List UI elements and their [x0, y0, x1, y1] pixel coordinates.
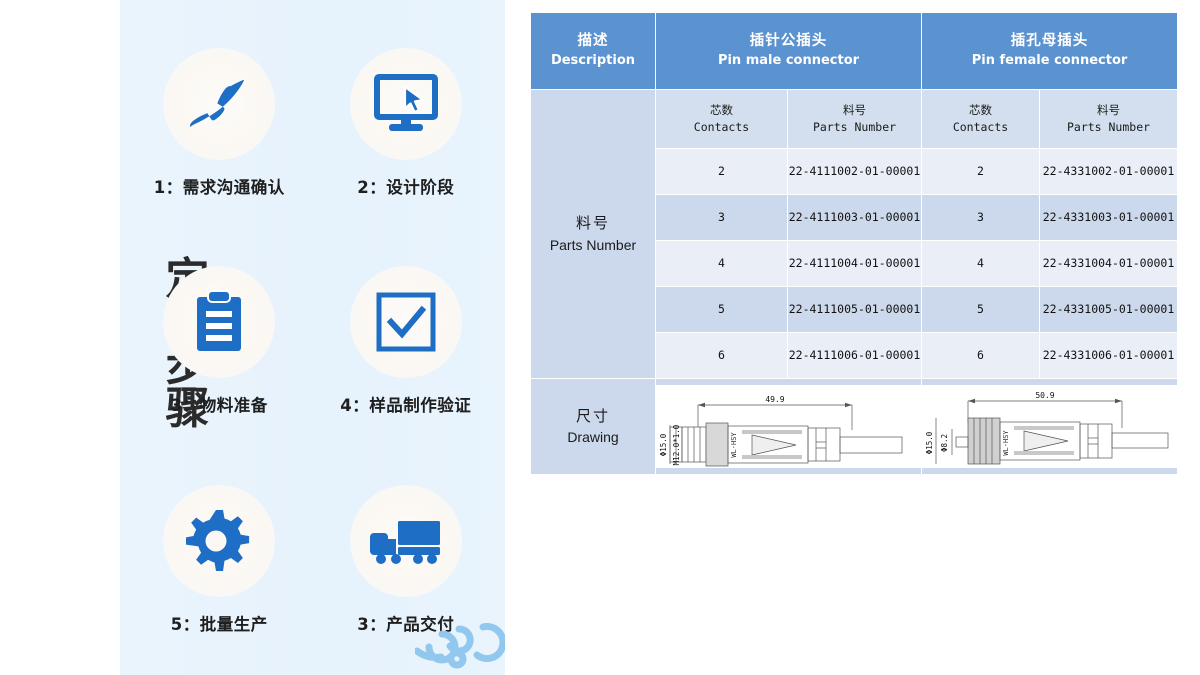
drawing-female-brand-label: WL-HSY — [1002, 430, 1010, 456]
drawing-male-connector: 49.9 Φ15.0 M12.0*1.0 WL-HSY — [656, 379, 922, 475]
row-label-parts-number: 料号 Parts Number — [531, 90, 656, 379]
subheader-female-contacts-en: Contacts — [922, 119, 1039, 136]
table-drawing-row: 尺寸 Drawing — [531, 379, 1178, 475]
row-label-drawing: 尺寸 Drawing — [531, 379, 656, 475]
truck-icon — [370, 515, 442, 567]
step-icon-circle-2 — [350, 48, 462, 160]
cell-male-contacts: 3 — [656, 195, 788, 241]
subheader-female-part-en: Parts Number — [1040, 119, 1177, 136]
step-icon-circle-4 — [350, 266, 462, 378]
subheader-male-contacts-cn: 芯数 — [656, 102, 787, 119]
step-label-5: 5：批量生产 — [171, 611, 268, 635]
step-item-5: 5：批量生产 — [126, 451, 313, 669]
cell-male-contacts: 2 — [656, 149, 788, 195]
step-label-3: 3：物料准备 — [171, 392, 268, 416]
cell-female-part: 22-4331006-01-00001 — [1040, 333, 1178, 379]
cell-male-part: 22-4111004-01-00001 — [788, 241, 922, 287]
row-label-parts-number-en: Parts Number — [531, 235, 655, 256]
cell-female-contacts: 5 — [922, 287, 1040, 333]
step-item-1: 1：需求沟通确认 — [126, 14, 313, 232]
cell-male-part: 22-4111005-01-00001 — [788, 287, 922, 333]
cell-female-part: 22-4331005-01-00001 — [1040, 287, 1178, 333]
clipboard-icon — [193, 290, 245, 354]
step-item-6: 3：产品交付 — [313, 451, 500, 669]
cell-female-contacts: 4 — [922, 241, 1040, 287]
step-item-3: 3：物料准备 — [126, 232, 313, 450]
drawing-male-brand-label: WL-HSY — [730, 432, 738, 458]
row-label-drawing-cn: 尺寸 — [531, 405, 655, 428]
header-male-en: Pin male connector — [656, 52, 921, 70]
gear-icon — [186, 508, 252, 574]
header-male-cn: 插针公插头 — [656, 32, 921, 52]
cell-female-part: 22-4331003-01-00001 — [1040, 195, 1178, 241]
drawing-female-connector: 50.9 Φ15.0 Φ8.2 WL-HSY — [922, 379, 1178, 475]
cell-female-contacts: 6 — [922, 333, 1040, 379]
subheader-male-contacts-en: Contacts — [656, 119, 787, 136]
cell-male-contacts: 5 — [656, 287, 788, 333]
drawing-female-diameter-label: Φ15.0 — [925, 431, 934, 454]
step-icon-circle-5 — [163, 485, 275, 597]
drawing-male-thread-label: M12.0*1.0 — [672, 424, 681, 465]
table-header-row: 描述 Description 插针公插头 Pin male connector … — [531, 13, 1178, 90]
steps-grid: 1：需求沟通确认 2：设计阶段 — [120, 0, 505, 675]
specification-table: 描述 Description 插针公插头 Pin male connector … — [530, 12, 1178, 475]
drawing-female-length-label: 50.9 — [1035, 391, 1054, 400]
header-description-en: Description — [531, 52, 655, 70]
subheader-female-contacts-cn: 芯数 — [922, 102, 1039, 119]
step-label-1: 1：需求沟通确认 — [154, 174, 285, 198]
cell-male-part: 22-4111006-01-00001 — [788, 333, 922, 379]
specification-table-container: 描述 Description 插针公插头 Pin male connector … — [530, 12, 1200, 477]
subheader-male-part-en: Parts Number — [788, 119, 921, 136]
header-description: 描述 Description — [531, 13, 656, 90]
subheader-male-part-cn: 料号 — [788, 102, 921, 119]
cell-male-contacts: 6 — [656, 333, 788, 379]
drawing-male-diameter-label: Φ15.0 — [659, 433, 668, 456]
subheader-female-contacts: 芯数 Contacts — [922, 90, 1040, 149]
step-icon-circle-1 — [163, 48, 275, 160]
check-square-icon — [375, 291, 437, 353]
table-subheader-row: 料号 Parts Number 芯数 Contacts 料号 Parts Num… — [531, 90, 1178, 149]
cell-male-part: 22-4111003-01-00001 — [788, 195, 922, 241]
drawing-male-length-label: 49.9 — [765, 395, 784, 404]
cell-female-contacts: 3 — [922, 195, 1040, 241]
step-label-6: 3：产品交付 — [357, 611, 454, 635]
header-female-cn: 插孔母插头 — [922, 32, 1177, 52]
cell-female-part: 22-4331002-01-00001 — [1040, 149, 1178, 195]
step-item-4: 4：样品制作验证 — [313, 232, 500, 450]
header-female-en: Pin female connector — [922, 52, 1177, 70]
drawing-female-canvas: 50.9 Φ15.0 Φ8.2 WL-HSY — [922, 385, 1177, 468]
subheader-male-part: 料号 Parts Number — [788, 90, 922, 149]
header-pin-male-connector: 插针公插头 Pin male connector — [656, 13, 922, 90]
header-pin-female-connector: 插孔母插头 Pin female connector — [922, 13, 1178, 90]
cell-female-contacts: 2 — [922, 149, 1040, 195]
subheader-female-part-cn: 料号 — [1040, 102, 1177, 119]
monitor-cursor-icon — [373, 73, 439, 135]
drawing-male-canvas: 49.9 Φ15.0 M12.0*1.0 WL-HSY — [656, 385, 921, 468]
step-label-2: 2：设计阶段 — [357, 174, 454, 198]
step-icon-circle-3 — [163, 266, 275, 378]
page-root: 定 制 步 骤 1：需求沟通确认 — [0, 0, 1200, 675]
step-icon-circle-6 — [350, 485, 462, 597]
drawing-female-inner-diameter-label: Φ8.2 — [940, 434, 949, 452]
row-label-drawing-en: Drawing — [531, 427, 655, 448]
header-description-cn: 描述 — [531, 32, 655, 52]
custom-steps-panel: 定 制 步 骤 1：需求沟通确认 — [120, 0, 505, 675]
step-item-2: 2：设计阶段 — [313, 14, 500, 232]
cell-male-part: 22-4111002-01-00001 — [788, 149, 922, 195]
phone-icon — [188, 73, 250, 135]
cell-female-part: 22-4331004-01-00001 — [1040, 241, 1178, 287]
subheader-male-contacts: 芯数 Contacts — [656, 90, 788, 149]
cell-male-contacts: 4 — [656, 241, 788, 287]
step-label-4: 4：样品制作验证 — [340, 392, 471, 416]
row-label-parts-number-cn: 料号 — [531, 212, 655, 235]
subheader-female-part: 料号 Parts Number — [1040, 90, 1178, 149]
